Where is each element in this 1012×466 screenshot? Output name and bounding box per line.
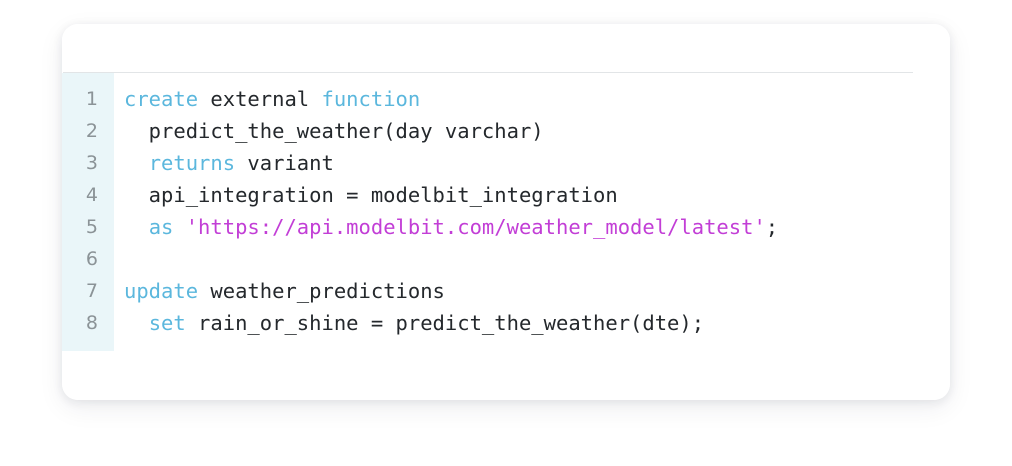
code-line[interactable]: update weather_predictions <box>124 275 950 307</box>
code-token-txt <box>124 311 149 335</box>
line-number: 8 <box>62 307 114 339</box>
line-number: 7 <box>62 275 114 307</box>
code-token-kw: as <box>149 215 174 239</box>
code-token-txt: predict_the_weather(day varchar) <box>124 119 544 143</box>
code-token-kw: create <box>124 87 198 111</box>
code-token-txt: external <box>198 87 321 111</box>
code-token-txt: rain_or_shine = predict_the_weather(dte)… <box>186 311 704 335</box>
code-token-txt <box>124 215 149 239</box>
code-token-str: 'https://api.modelbit.com/weather_model/… <box>186 215 766 239</box>
code-token-kw: returns <box>149 151 235 175</box>
code-line[interactable]: predict_the_weather(day varchar) <box>124 115 950 147</box>
line-number: 6 <box>62 243 114 275</box>
code-line[interactable]: as 'https://api.modelbit.com/weather_mod… <box>124 211 950 243</box>
code-content-area[interactable]: create external function predict_the_wea… <box>114 73 950 351</box>
line-number-gutter: 12345678 <box>62 73 114 351</box>
code-token-txt <box>124 151 149 175</box>
code-line[interactable]: set rain_or_shine = predict_the_weather(… <box>124 307 950 339</box>
line-number: 2 <box>62 115 114 147</box>
code-line[interactable]: api_integration = modelbit_integration <box>124 179 950 211</box>
page-root: 12345678 create external function predic… <box>0 0 1012 466</box>
code-token-kw: update <box>124 279 198 303</box>
card-header-bar <box>62 24 950 72</box>
line-number: 5 <box>62 211 114 243</box>
code-line[interactable]: returns variant <box>124 147 950 179</box>
code-token-txt: api_integration = modelbit_integration <box>124 183 618 207</box>
code-token-txt: variant <box>235 151 334 175</box>
sql-code-snippet-card: 12345678 create external function predic… <box>62 24 950 400</box>
code-token-kw: function <box>321 87 420 111</box>
code-editor[interactable]: 12345678 create external function predic… <box>62 73 950 400</box>
code-token-kw: set <box>149 311 186 335</box>
line-number: 3 <box>62 147 114 179</box>
code-line[interactable]: create external function <box>124 83 950 115</box>
code-line[interactable] <box>124 243 950 275</box>
line-number: 4 <box>62 179 114 211</box>
code-token-txt: weather_predictions <box>198 279 445 303</box>
code-token-txt <box>173 215 185 239</box>
line-number: 1 <box>62 83 114 115</box>
code-token-txt: ; <box>766 215 778 239</box>
